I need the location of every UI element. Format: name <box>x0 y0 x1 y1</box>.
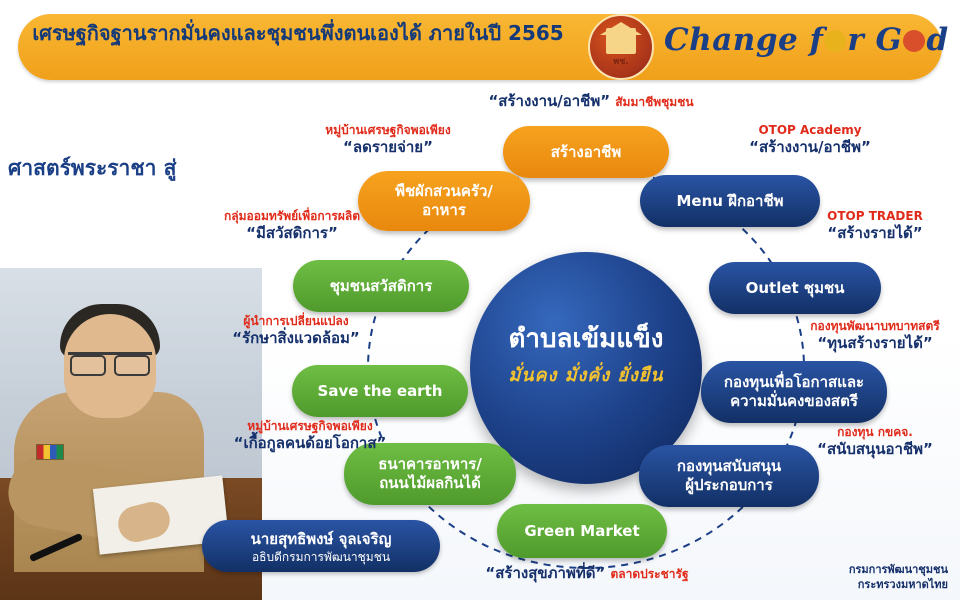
caption-fund-kochor: กองทุน กขคจ. “สนับสนุนอาชีพ” <box>790 424 960 458</box>
glasses-right-lens <box>114 355 150 376</box>
cdd-emblem-icon: พช. <box>588 14 654 80</box>
caption-green-market-quote: “สร้างสุขภาพที่ดี” <box>485 564 605 582</box>
caption-otop-trader: OTOP TRADER “สร้างรายได้” <box>800 208 950 242</box>
caption-change-leader: ผู้นำการเปลี่ยนแปลง “รักษาสิ่งแวดล้อม” <box>196 313 396 347</box>
node-green-market[interactable]: Green Market <box>497 504 667 558</box>
caption-green-market-source: ตลาดประชารัฐ <box>610 567 688 581</box>
glasses-left-lens <box>70 355 106 376</box>
caption-change-leader-source: ผู้นำการเปลี่ยนแปลง <box>196 313 396 330</box>
node-food-bank-label: ธนาคารอาหาร/ ถนนไม้ผลกินได้ <box>378 455 482 493</box>
center-subtitle: มั่นคง มั่งคั่ง ยั่งยืน <box>470 360 702 389</box>
diagram-canvas: เศรษฐกิจฐานรากมั่นคงและชุมชนพึ่งตนเองได้… <box>0 0 960 600</box>
node-menu-training-label: Menu ฝึกอาชีพ <box>676 192 783 211</box>
footer-organization: กรมการพัฒนาชุมชน กระทรวงมหาดไทย <box>849 562 948 592</box>
name-plate: นายสุทธิพงษ์ จุลเจริญ อธิบดีกรมการพัฒนาช… <box>202 520 440 572</box>
emblem-house-shape <box>606 28 636 54</box>
caption-otop-academy-source: OTOP Academy <box>712 122 908 139</box>
arrow-head-shape <box>218 128 270 200</box>
node-menu-training[interactable]: Menu ฝึกอาชีพ <box>640 175 820 227</box>
caption-sufficiency-village-bottom-quote: “เกื้อกูลคนด้อยโอกาส” <box>204 435 416 452</box>
name-plate-position: อธิบดีกรมการพัฒนาชุมชน <box>202 548 440 567</box>
caption-savings-group-quote: “มีสวัสดิการ” <box>186 225 398 242</box>
caption-sufficiency-village-top-source: หมู่บ้านเศรษฐกิจพอเพียง <box>288 122 488 139</box>
caption-otop-trader-quote: “สร้างรายได้” <box>800 225 950 242</box>
caption-otop-academy: OTOP Academy “สร้างงาน/อาชีพ” <box>712 122 908 156</box>
node-create-career[interactable]: สร้างอาชีพ <box>503 126 669 178</box>
caption-create-career-source: สัมมาชีพชุมชน <box>615 95 693 109</box>
center-title: ตำบลเข้มแข็ง <box>470 318 702 359</box>
caption-women-fund-source: กองทุนพัฒนาบทบาทสตรี <box>790 318 960 335</box>
photo-ribbon-badge <box>36 444 64 460</box>
slogan-circle-red-icon <box>903 30 925 52</box>
node-create-career-label: สร้างอาชีพ <box>551 143 621 162</box>
caption-change-leader-quote: “รักษาสิ่งแวดล้อม” <box>196 330 396 347</box>
caption-women-fund-quote: “ทุนสร้างรายได้” <box>790 335 960 352</box>
caption-create-career-quote: “สร้างงาน/อาชีพ” <box>488 92 610 110</box>
caption-create-career: “สร้างงาน/อาชีพ” สัมมาชีพชุมชน <box>466 92 716 111</box>
node-entrepreneur-fund-label: กองทุนสนับสนุน ผู้ประกอบการ <box>677 457 781 495</box>
node-save-the-earth-label: Save the earth <box>318 382 443 401</box>
node-green-market-label: Green Market <box>524 522 639 541</box>
royal-philosophy-arrow: ศาสตร์พระราชา สู่ <box>0 128 280 200</box>
node-community-welfare-label: ชุมชนสวัสดิการ <box>330 277 433 296</box>
caption-fund-kochor-quote: “สนับสนุนอาชีพ” <box>790 441 960 458</box>
node-opportunity-fund-label: กองทุนเพื่อโอกาสและ ความมั่นคงของสตรี <box>724 373 864 411</box>
slogan-change-for-good: Change fr Gd <box>664 22 949 58</box>
caption-sufficiency-village-bottom-source: หมู่บ้านเศรษฐกิจพอเพียง <box>204 418 416 435</box>
slogan-part-3: d <box>926 22 948 58</box>
caption-otop-trader-source: OTOP TRADER <box>800 208 950 225</box>
caption-green-market: “สร้างสุขภาพที่ดี” ตลาดประชารัฐ <box>462 564 712 583</box>
emblem-label: พช. <box>590 54 652 68</box>
node-community-welfare[interactable]: ชุมชนสวัสดิการ <box>293 260 469 312</box>
slogan-part-1: Change f <box>664 22 823 58</box>
node-community-outlet[interactable]: Outlet ชุมชน <box>709 262 881 314</box>
node-food-bank[interactable]: ธนาคารอาหาร/ ถนนไม้ผลกินได้ <box>344 443 516 505</box>
caption-sufficiency-village-top-quote: “ลดรายจ่าย” <box>288 139 488 156</box>
node-save-the-earth[interactable]: Save the earth <box>292 365 468 417</box>
node-community-outlet-label: Outlet ชุมชน <box>746 279 845 298</box>
caption-savings-group-source: กลุ่มออมทรัพย์เพื่อการผลิต <box>186 208 398 225</box>
slogan-circle-orange-icon <box>824 30 846 52</box>
caption-sufficiency-village-top: หมู่บ้านเศรษฐกิจพอเพียง “ลดรายจ่าย” <box>288 122 488 156</box>
caption-sufficiency-village-bottom: หมู่บ้านเศรษฐกิจพอเพียง “เกื้อกูลคนด้อยโ… <box>204 418 416 452</box>
footer-line-1: กรมการพัฒนาชุมชน <box>849 562 948 577</box>
photo-glasses-icon <box>68 352 152 373</box>
footer-line-2: กระทรวงมหาดไทย <box>849 577 948 592</box>
caption-fund-kochor-source: กองทุน กขคจ. <box>790 424 960 441</box>
caption-savings-group: กลุ่มออมทรัพย์เพื่อการผลิต “มีสวัสดิการ” <box>186 208 398 242</box>
node-vegetable-garden-label: พืชผักสวนครัว/ อาหาร <box>395 182 493 220</box>
arrow-label: ศาสตร์พระราชา สู่ <box>8 152 177 185</box>
caption-otop-academy-quote: “สร้างงาน/อาชีพ” <box>712 139 908 156</box>
banner-title: เศรษฐกิจฐานรากมั่นคงและชุมชนพึ่งตนเองได้… <box>28 20 568 46</box>
caption-women-fund: กองทุนพัฒนาบทบาทสตรี “ทุนสร้างรายได้” <box>790 318 960 352</box>
slogan-part-2: r G <box>847 22 902 58</box>
node-opportunity-fund[interactable]: กองทุนเพื่อโอกาสและ ความมั่นคงของสตรี <box>701 361 887 423</box>
